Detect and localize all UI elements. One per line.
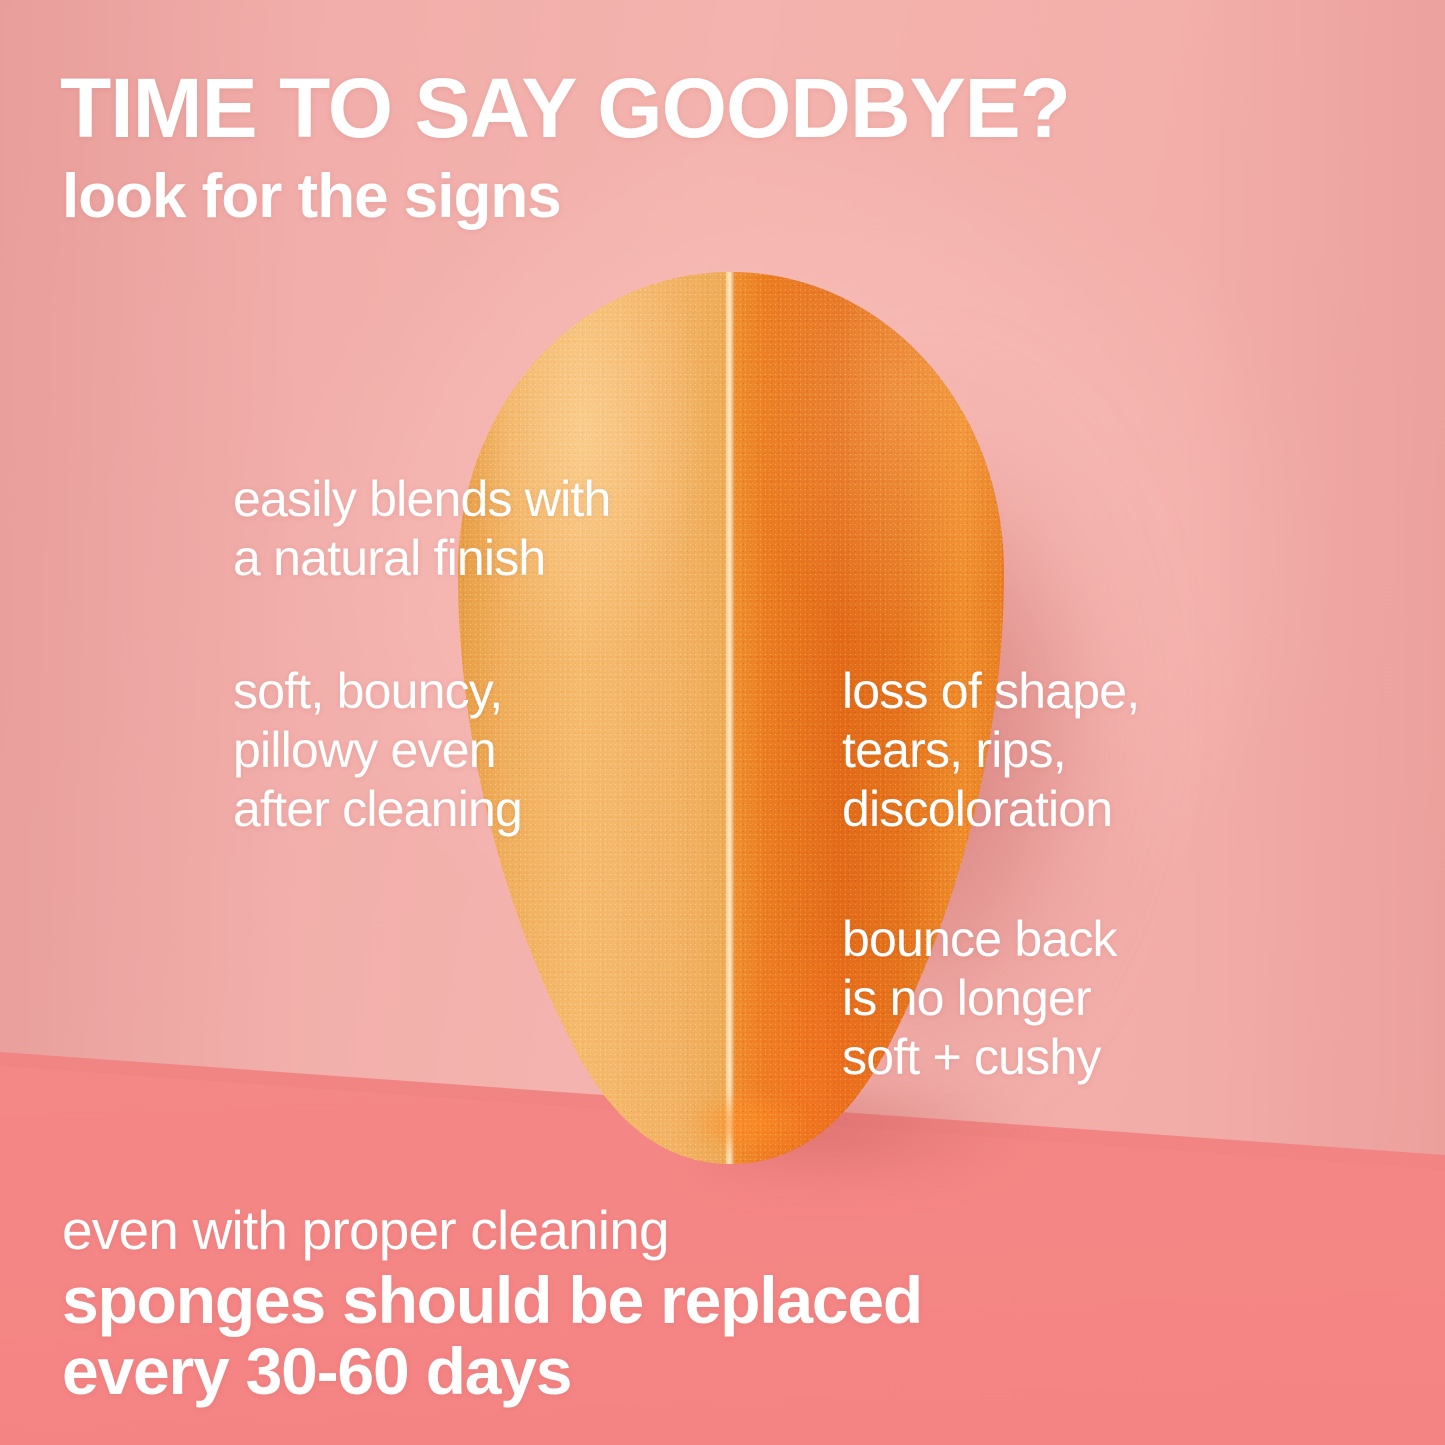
pro-callout-soft-bouncy: soft, bouncy, pillowy even after cleanin… [233,662,522,839]
con-callout-bounce-back: bounce back is no longer soft + cushy [842,910,1117,1087]
page-title: TIME TO SAY GOODBYE? [60,66,1070,150]
pro-callout-blends: easily blends with a natural finish [233,470,610,588]
footer-lead-text: even with proper cleaning [62,1202,669,1259]
infographic-poster: TIME TO SAY GOODBYE? look for the signs … [0,0,1445,1445]
con-callout-loss-of-shape: loss of shape, tears, rips, discoloratio… [842,662,1139,839]
footer-main-text: sponges should be replaced every 30-60 d… [62,1265,922,1406]
page-subtitle: look for the signs [62,166,561,228]
